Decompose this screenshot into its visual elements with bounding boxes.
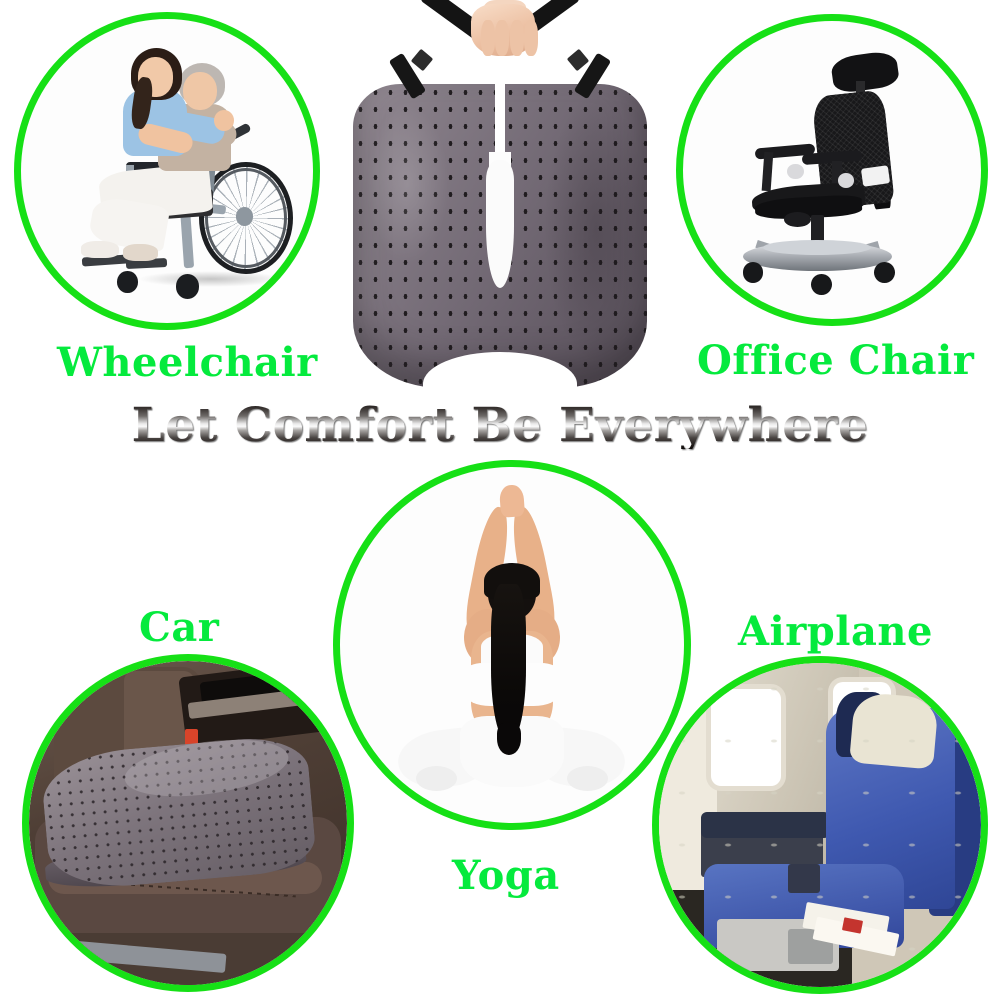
use-case-label-airplane: Airplane [738, 612, 933, 652]
use-case-label-car: Car [139, 608, 219, 648]
wheelchair-caster-right [176, 274, 199, 298]
hand-finger-3 [510, 20, 524, 56]
office-chair-caster-left [743, 262, 764, 283]
hand-finger-4 [524, 20, 538, 56]
cushion-shadow [545, 96, 647, 360]
office-chair-tilt-mechanism [784, 212, 811, 227]
office-chair-caster-center [811, 274, 832, 295]
infographic-canvas: Wheelchair Office Chair [0, 0, 1000, 1000]
yoga-foot-left [416, 766, 457, 791]
hand-finger-1 [481, 20, 495, 56]
yoga-foot-right [567, 766, 608, 791]
office-chair-armrest-left-post [762, 152, 774, 191]
office-chair-arm-cap-left [787, 164, 803, 179]
wheelchair-wheel-hub [236, 207, 254, 225]
elderly-woman-head [183, 72, 217, 110]
hand-finger-2 [495, 20, 509, 56]
page-headline: Let Comfort Be Everywhere [0, 402, 1000, 449]
use-case-circle-car [22, 654, 354, 992]
strap-clip-left [410, 49, 433, 72]
use-case-circle-yoga [333, 460, 691, 830]
use-case-label-yoga: Yoga [452, 856, 560, 896]
cushion-highlight [366, 104, 449, 264]
office-chair-scene [683, 21, 981, 319]
wheelchair-scene [21, 19, 313, 323]
car-scene [29, 661, 347, 985]
use-case-label-wheelchair: Wheelchair [57, 343, 318, 383]
use-case-circle-wheelchair [14, 12, 320, 330]
wheelchair-floor-shadow [138, 271, 284, 286]
wheelchair-caster-left [117, 271, 137, 292]
cushion-coccyx-cutout [486, 160, 515, 288]
office-chair-base-highlight [763, 240, 870, 255]
elderly-woman-shoe-left [81, 241, 119, 258]
office-chair-lumbar-support [861, 165, 890, 186]
office-chair-caster-right [874, 262, 895, 283]
use-case-circle-office-chair [676, 14, 988, 326]
strap-clip-right [567, 49, 590, 72]
yoga-ponytail [491, 584, 525, 741]
elderly-woman-shoe-right [123, 244, 158, 261]
use-case-label-office-chair: Office Chair [697, 341, 974, 381]
airplane-scene [659, 663, 981, 987]
office-chair-headrest [830, 49, 900, 94]
office-chair-arm-cap-right [838, 173, 854, 188]
yoga-ponytail-tip [497, 723, 521, 755]
yoga-hands-overhead [499, 484, 525, 518]
yoga-scene [340, 467, 684, 823]
use-case-circle-airplane [652, 656, 988, 994]
product-seat-cushion [340, 0, 660, 400]
